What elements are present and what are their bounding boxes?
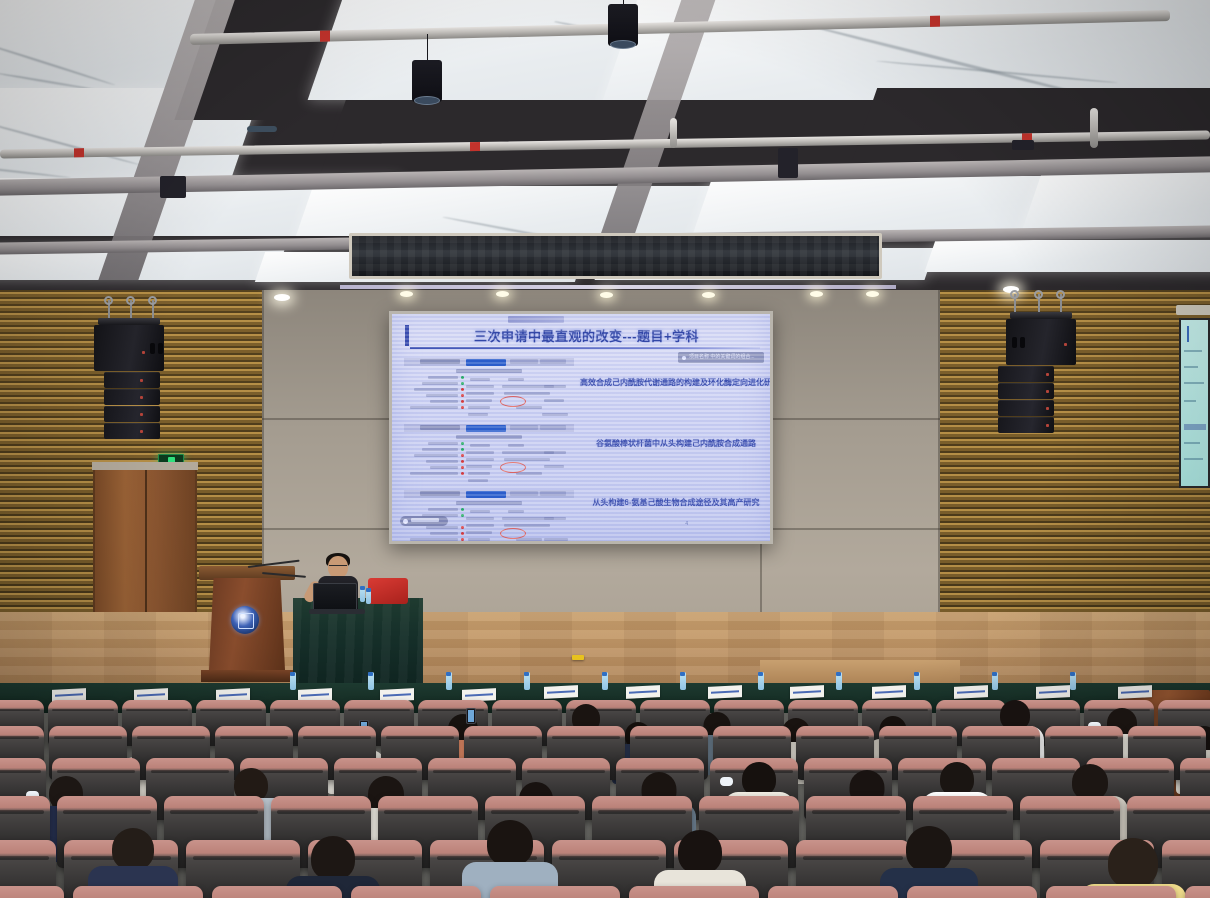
auditorium-seat[interactable] [490, 886, 620, 898]
auditorium-seat[interactable] [907, 886, 1037, 898]
presenter-glasses [329, 565, 347, 569]
light-cove [340, 285, 896, 289]
name-placard [954, 685, 988, 699]
water-bottle [914, 672, 920, 690]
name-placard [1118, 685, 1152, 699]
pill-dot-icon [403, 519, 408, 524]
audience-head [906, 826, 952, 872]
slide-title: 三次申请中最直观的改变---题目+学科 [414, 326, 759, 345]
ceiling-light-panel [924, 240, 1210, 272]
downlight [400, 291, 413, 297]
auditorium-seat[interactable] [629, 886, 759, 898]
stage-tape-mark [572, 655, 584, 660]
audience-head [112, 828, 154, 870]
audience-head [940, 762, 974, 796]
water-bottle [368, 672, 374, 690]
downlight [702, 292, 715, 298]
auditorium-seat[interactable] [768, 886, 898, 898]
water-bottle [366, 588, 371, 604]
water-bottle [758, 672, 764, 690]
acoustic-panel [349, 233, 882, 279]
highlight-annotation [500, 528, 526, 539]
red-bag [368, 578, 408, 604]
water-bottle [360, 586, 365, 602]
side-monitor-bracket [1176, 305, 1210, 315]
ceiling-vent [247, 126, 277, 132]
ceiling-pipe-riser [1090, 108, 1098, 148]
downlight [496, 291, 509, 297]
auditorium-seat[interactable] [1185, 886, 1210, 898]
water-bottle [992, 672, 998, 690]
form-primary-button [466, 491, 506, 498]
audience-head [678, 830, 722, 874]
pendant-light-icon [608, 4, 638, 46]
university-crest-icon [231, 606, 259, 634]
name-placard [1036, 685, 1070, 699]
name-placard [544, 685, 578, 699]
downlight [866, 291, 879, 297]
slide-title-underline [410, 347, 760, 349]
side-monitor[interactable] [1179, 318, 1210, 488]
form-primary-button [466, 425, 506, 432]
auditorium-seat[interactable] [0, 886, 64, 898]
pendant-light-icon [412, 60, 442, 102]
downlight [810, 291, 823, 297]
auditorium-seat[interactable] [212, 886, 342, 898]
slide-title-accent-bar [405, 325, 409, 346]
audience-head [742, 762, 776, 796]
water-bottle [836, 672, 842, 690]
recessed-spotlight [274, 294, 290, 301]
projection-screen: 三次申请中最直观的改变---题目+学科 项目名称 中的关键词的组合... [389, 311, 773, 544]
auditorium-seat[interactable] [1046, 886, 1176, 898]
form-primary-button [466, 359, 506, 366]
slide-form-block [404, 358, 574, 420]
name-placard [626, 685, 660, 699]
ceiling-vent [1012, 140, 1034, 150]
name-placard [790, 685, 824, 699]
water-bottle [1070, 672, 1076, 690]
slide-topic-line: 谷氨酸棒状杆菌中从头构建己内酰胺合成通路 [580, 438, 770, 449]
highlight-annotation [500, 462, 526, 473]
water-bottle [602, 672, 608, 690]
audience-head [311, 836, 355, 880]
auditorium-photo: 三次申请中最直观的改变---题目+学科 项目名称 中的关键词的组合... [0, 0, 1210, 898]
name-placard [708, 685, 742, 699]
slide-topic-line: 高效合成己内酰胺代谢通路的构建及环化酶定向进化研究 [580, 377, 770, 388]
audience-head [1072, 764, 1108, 800]
water-bottle [446, 672, 452, 690]
ceiling-vent [160, 176, 186, 198]
tag-dot-icon [682, 356, 686, 360]
face-mask [720, 777, 733, 786]
water-bottle [524, 672, 530, 690]
slide-form-block [404, 490, 574, 541]
smartphone [466, 708, 476, 724]
ceiling-vent [778, 148, 798, 178]
name-placard [872, 685, 906, 699]
slide-form-block [404, 424, 574, 486]
slide-action-pill [400, 516, 448, 526]
water-bottle [290, 672, 296, 690]
slide-corner-tag: 项目名称 中的关键词的组合... [678, 352, 764, 363]
podium [205, 566, 289, 682]
presenter-laptop [313, 583, 357, 611]
slide-page-number: 4 [685, 521, 688, 527]
slide-corner-tag-label: 项目名称 中的关键词的组合... [689, 353, 761, 360]
downlight [600, 292, 613, 298]
presentation-slide: 三次申请中最直观的改变---题目+学科 项目名称 中的关键词的组合... [392, 314, 770, 541]
highlight-annotation [500, 396, 526, 407]
slide-topic-line: 从头构建6-氨基己酸生物合成途径及其高产研究 [580, 497, 770, 508]
auditorium-seat[interactable] [351, 886, 481, 898]
water-bottle [680, 672, 686, 690]
ceiling-pipe-riser [670, 118, 677, 148]
slide-badge [508, 316, 564, 323]
audience-head [1108, 838, 1158, 888]
audience-head [487, 820, 533, 866]
auditorium-seat[interactable] [73, 886, 203, 898]
